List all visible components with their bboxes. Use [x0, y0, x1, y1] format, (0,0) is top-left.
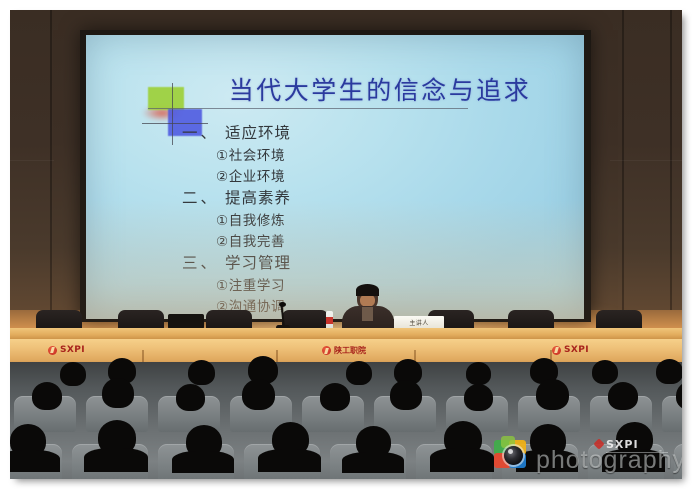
chair [118, 310, 164, 330]
chair [508, 310, 554, 330]
projection-screen: 当代大学生的信念与追求 一、 适应环境 ①社会环境 ②企业环境 二、 提高素养 … [86, 35, 584, 319]
slide-title: 当代大学生的信念与追求 [186, 71, 574, 107]
photograph: 当代大学生的信念与追求 一、 适应环境 ①社会环境 ②企业环境 二、 提高素养 … [10, 10, 682, 479]
camera-lens-icon [494, 440, 530, 472]
photo-frame: 当代大学生的信念与追求 一、 适应环境 ①社会环境 ②企业环境 二、 提高素养 … [0, 0, 692, 489]
chair [36, 310, 82, 330]
sxpi-logo-icon [48, 346, 57, 355]
outline-item: ①自我修炼 [182, 209, 512, 229]
outline-item: 一、 适应环境 [182, 121, 512, 143]
outline-item: 二、 提高素养 [182, 186, 512, 208]
laptop [168, 314, 204, 329]
nameplate-text: 主讲人 [409, 318, 428, 327]
chair [596, 310, 642, 330]
slide-title-rule [148, 108, 468, 109]
table-logo-right: SXPI [552, 345, 589, 355]
microphone-head [279, 302, 286, 307]
outline-item: ①社会环境 [182, 144, 512, 164]
table-logo-left: SXPI [48, 345, 85, 355]
table-logo-center: 陕工职院 [322, 345, 366, 356]
speaker-person [340, 286, 396, 330]
institute-logo-icon [322, 346, 331, 355]
sxpi-logo-icon [552, 346, 561, 355]
watermark-tagline: photography [536, 446, 682, 475]
outline-item: ②企业环境 [182, 165, 512, 185]
outline-item: 三、 学习管理 [182, 251, 512, 273]
photographer-watermark: SXPI photography [494, 434, 674, 478]
water-bottle-label [326, 317, 333, 324]
outline-item: ②自我完善 [182, 230, 512, 250]
